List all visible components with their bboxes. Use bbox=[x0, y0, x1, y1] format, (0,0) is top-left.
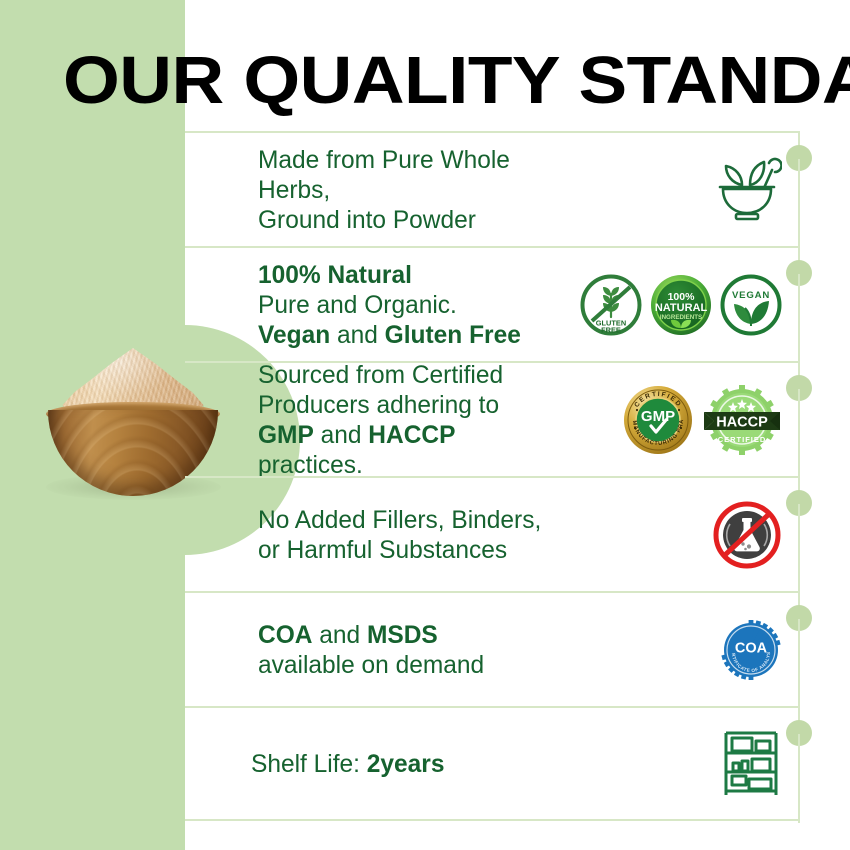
row4-line1: No Added Fillers, Binders, bbox=[258, 506, 541, 534]
row1-line1: Made from Pure Whole Herbs, bbox=[258, 146, 510, 204]
row-icon-group bbox=[712, 157, 782, 223]
row5-line2: available on demand bbox=[258, 651, 484, 679]
svg-text:COA: COA bbox=[735, 640, 768, 656]
row-icon-group: GLUTEN FREE bbox=[580, 274, 782, 336]
svg-text:GMP: GMP bbox=[641, 408, 675, 425]
svg-text:INGREDIENTS: INGREDIENTS bbox=[660, 314, 702, 321]
row6-label: Shelf Life: bbox=[251, 750, 367, 778]
svg-text:VEGAN: VEGAN bbox=[732, 290, 770, 301]
row3-line1: Sourced from Certified bbox=[258, 361, 503, 389]
row-connector bbox=[780, 720, 818, 823]
svg-text:HACCP: HACCP bbox=[716, 414, 768, 430]
row2-gluten-free: Gluten Free bbox=[385, 321, 521, 349]
row-connector bbox=[780, 490, 818, 593]
haccp-certified-badge: CERTIFIED HACCP bbox=[702, 384, 782, 456]
connector-stem bbox=[798, 274, 800, 363]
row5-coa: COA bbox=[258, 621, 312, 649]
row3-and: and bbox=[314, 421, 368, 449]
row5-msds: MSDS bbox=[367, 621, 438, 649]
svg-text:NATURAL: NATURAL bbox=[655, 302, 708, 314]
row3-line2: Producers adhering to bbox=[258, 391, 499, 419]
row-icon-group bbox=[720, 729, 782, 799]
standard-row-whole-herbs: Made from Pure Whole Herbs, Ground into … bbox=[185, 131, 800, 246]
standard-row-text: 100% Natural Pure and Organic. Vegan and… bbox=[258, 260, 562, 350]
row3-practices: practices. bbox=[258, 451, 363, 479]
standard-row-shelf-life: Shelf Life: 2years bbox=[185, 706, 800, 821]
page-title: OUR QUALITY STANDARDS bbox=[63, 46, 850, 116]
standards-list: Made from Pure Whole Herbs, Ground into … bbox=[185, 131, 800, 821]
standard-row-certified-producers: Sourced from Certified Producers adherin… bbox=[185, 361, 800, 476]
standard-row-text: COA and MSDS available on demand bbox=[258, 620, 562, 680]
connector-stem bbox=[798, 734, 800, 823]
connector-dot bbox=[786, 605, 812, 631]
row1-line2: Ground into Powder bbox=[258, 206, 476, 234]
connector-stem bbox=[798, 504, 800, 593]
row4-line2: or Harmful Substances bbox=[258, 536, 507, 564]
row-connector bbox=[780, 375, 818, 478]
row3-gmp: GMP bbox=[258, 421, 314, 449]
mortar-and-pestle-icon bbox=[712, 157, 782, 223]
row2-and: and bbox=[330, 321, 384, 349]
row5-and: and bbox=[312, 621, 366, 649]
row6-value: 2years bbox=[367, 750, 445, 778]
standard-row-text: Made from Pure Whole Herbs, Ground into … bbox=[258, 145, 562, 235]
connector-stem bbox=[798, 389, 800, 478]
connector-dot bbox=[786, 490, 812, 516]
row2-vegan: Vegan bbox=[258, 321, 330, 349]
standard-row-coa-msds: COA and MSDS available on demand bbox=[185, 591, 800, 706]
svg-text:FREE: FREE bbox=[601, 325, 621, 334]
connector-stem bbox=[798, 159, 800, 248]
100-percent-natural-badge: 100% NATURAL INGREDIENTS bbox=[650, 274, 712, 336]
row3-haccp: HACCP bbox=[368, 421, 455, 449]
gmp-certified-badge: CERTIFIED GOOD MANUFACTURING PRACTICE GM… bbox=[622, 384, 694, 456]
standard-row-natural: 100% Natural Pure and Organic. Vegan and… bbox=[185, 246, 800, 361]
row-connector bbox=[780, 605, 818, 708]
row-connector bbox=[780, 260, 818, 363]
connector-stem bbox=[798, 619, 800, 708]
no-chemicals-icon bbox=[712, 500, 782, 570]
connector-dot bbox=[786, 720, 812, 746]
row-icon-group bbox=[712, 500, 782, 570]
standard-row-no-fillers: No Added Fillers, Binders, or Harmful Su… bbox=[185, 476, 800, 591]
quality-standards-infographic: OUR QUALITY STANDARDS Made from Pure Who… bbox=[0, 0, 850, 850]
row2-line1: 100% Natural bbox=[258, 261, 412, 289]
shelf-rack-icon bbox=[720, 729, 782, 799]
haccp-certified-subtext: CERTIFIED bbox=[718, 435, 767, 444]
gluten-free-badge: GLUTEN FREE bbox=[580, 274, 642, 336]
standard-row-text: No Added Fillers, Binders, or Harmful Su… bbox=[258, 505, 562, 565]
standard-row-text: Shelf Life: 2years bbox=[251, 749, 555, 779]
row-icon-group: CERTIFIED GOOD MANUFACTURING PRACTICE GM… bbox=[622, 384, 782, 456]
row-icon-group: COA CERTIFICATE OF ANALYSIS bbox=[720, 619, 782, 681]
vegan-badge: VEGAN bbox=[720, 274, 782, 336]
row-connector bbox=[780, 145, 818, 248]
standard-row-text: Sourced from Certified Producers adherin… bbox=[258, 360, 562, 480]
connector-dot bbox=[786, 375, 812, 401]
connector-dot bbox=[786, 260, 812, 286]
row2-line2: Pure and Organic. bbox=[258, 291, 457, 319]
connector-dot bbox=[786, 145, 812, 171]
coa-badge: COA CERTIFICATE OF ANALYSIS bbox=[720, 619, 782, 681]
